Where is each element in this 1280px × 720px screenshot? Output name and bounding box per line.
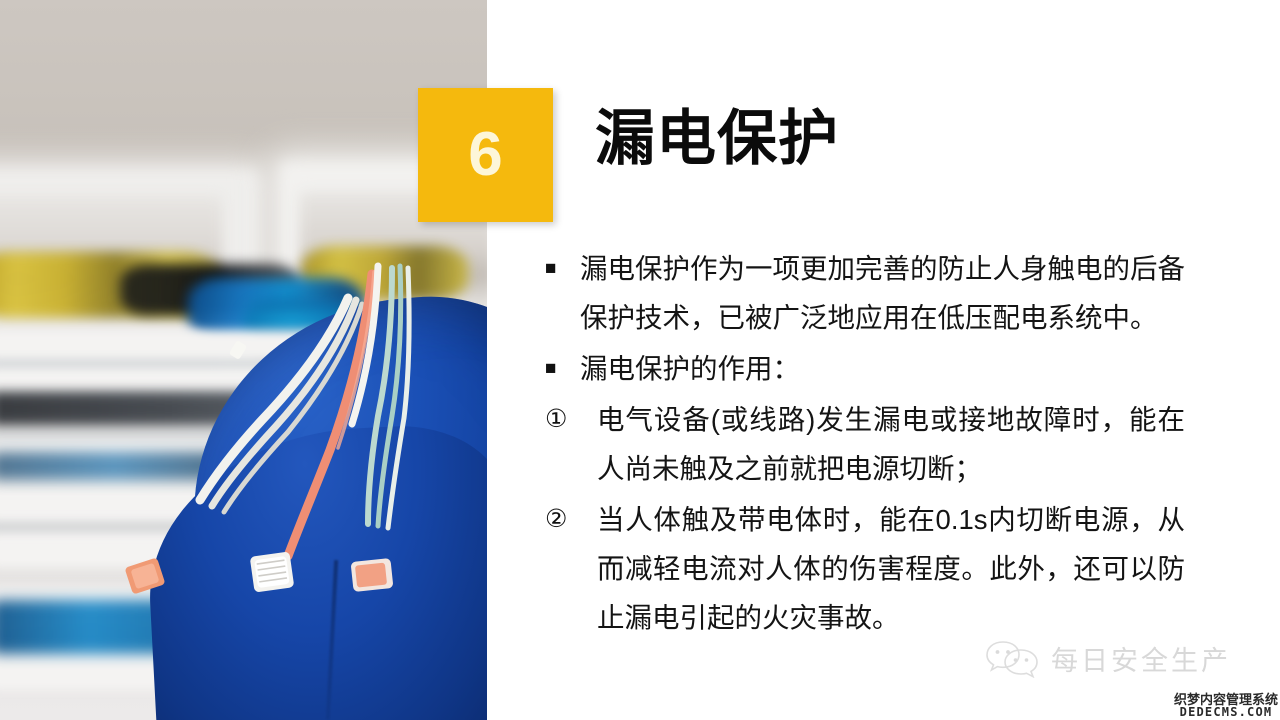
slide: 6 漏电保护 ■ 漏电保护作为一项更加完善的防止人身触电的后备保护技术，已被广泛… [0,0,1280,720]
bullet-text: 漏电保护作为一项更加完善的防止人身触电的后备保护技术，已被广泛地应用在低压配电系… [580,244,1185,342]
circled-number-icon: ① [545,395,597,493]
numbered-item: ② 当人体触及带电体时，能在0.1s内切断电源，从而减轻电流对人体的伤害程度。此… [545,495,1185,642]
bullet-item: ■ 漏电保护的作用： [545,344,1185,393]
section-number: 6 [468,124,502,186]
body-content: ■ 漏电保护作为一项更加完善的防止人身触电的后备保护技术，已被广泛地应用在低压配… [545,244,1185,644]
numbered-text: 当人体触及带电体时，能在0.1s内切断电源，从而减轻电流对人体的伤害程度。此外，… [597,495,1185,642]
watermark-text: 每日安全生产 [1051,639,1231,678]
wechat-watermark: 每日安全生产 [985,638,1231,678]
page-title: 漏电保护 [595,104,839,173]
section-number-badge: 6 [418,88,553,222]
dedecms-logo-en: DEDECMS.COM [1174,706,1278,718]
bullet-text: 漏电保护的作用： [580,344,1185,393]
slide-photo [0,0,487,720]
numbered-text: 电气设备(或线路)发生漏电或接地故障时，能在人尚未触及之前就把电源切断； [597,395,1185,493]
circled-number-icon: ② [545,495,597,642]
square-bullet-icon: ■ [545,344,580,393]
shoulder-cables [0,0,487,720]
wechat-icon [985,638,1041,678]
bullet-item: ■ 漏电保护作为一项更加完善的防止人身触电的后备保护技术，已被广泛地应用在低压配… [545,244,1185,342]
numbered-item: ① 电气设备(或线路)发生漏电或接地故障时，能在人尚未触及之前就把电源切断； [545,395,1185,493]
dedecms-logo: 织梦内容管理系统 DEDECMS.COM [1174,693,1278,718]
square-bullet-icon: ■ [545,244,580,342]
